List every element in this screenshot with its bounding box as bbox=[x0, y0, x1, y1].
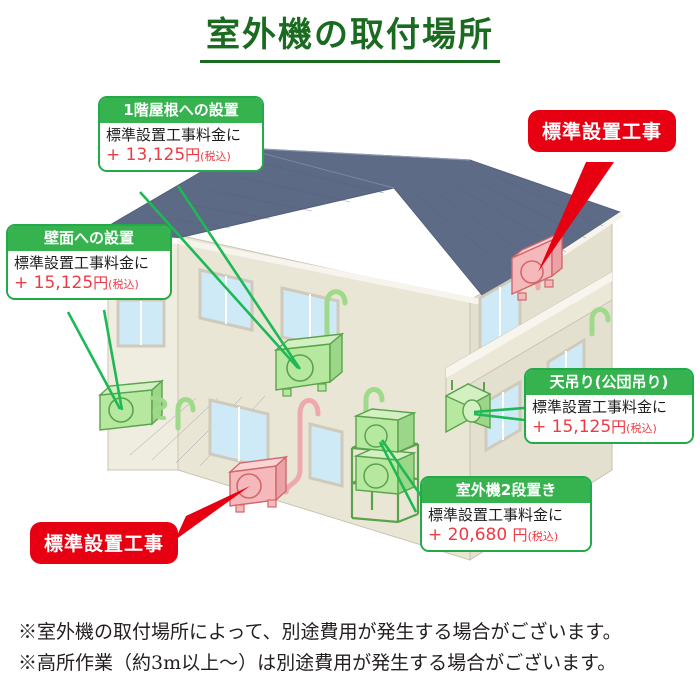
outdoor-unit-ground-pink bbox=[230, 457, 286, 512]
yen-unit: 円 bbox=[513, 526, 528, 544]
tax-note: (税込) bbox=[200, 150, 231, 163]
plus-sign: + bbox=[14, 273, 28, 293]
callout-roof-1f-price: + 13,125円(税込) bbox=[106, 145, 256, 166]
plus-sign: + bbox=[428, 525, 442, 545]
yen-unit: 円 bbox=[185, 146, 200, 164]
red-label-standard-top[interactable]: 標準設置工事 bbox=[528, 110, 676, 152]
callout-ceiling-hang-header: 天吊り(公団吊り) bbox=[526, 370, 692, 395]
tax-note: (税込) bbox=[528, 530, 559, 543]
yen-unit: 円 bbox=[611, 418, 626, 436]
callout-wall[interactable]: 壁面への設置 標準設置工事料金に + 15,125円(税込) bbox=[6, 224, 172, 300]
tax-note: (税込) bbox=[108, 278, 139, 291]
callout-ceiling-hang-price: + 15,125円(税込) bbox=[532, 417, 686, 438]
callout-ceiling-hang[interactable]: 天吊り(公団吊り) 標準設置工事料金に + 15,125円(税込) bbox=[524, 368, 694, 444]
footer-notes: ※室外機の取付場所によって、別途費用が発生する場合がございます。 ※高所作業（約… bbox=[18, 617, 688, 679]
callout-roof-1f-body: 標準設置工事料金に + 13,125円(税込) bbox=[100, 123, 262, 170]
amount: 20,680 bbox=[448, 525, 507, 545]
callout-roof-1f-header: 1階屋根への設置 bbox=[100, 98, 262, 123]
callout-two-tier-body: 標準設置工事料金に + 20,680 円(税込) bbox=[422, 503, 590, 550]
plus-sign: + bbox=[532, 417, 546, 437]
note-line-1: ※室外機の取付場所によって、別途費用が発生する場合がございます。 bbox=[18, 617, 688, 648]
window-front-lower-right bbox=[310, 424, 342, 486]
plus-sign: + bbox=[106, 145, 120, 165]
callout-two-tier-price: + 20,680 円(税込) bbox=[428, 525, 584, 546]
callout-roof-1f[interactable]: 1階屋根への設置 標準設置工事料金に + 13,125円(税込) bbox=[98, 96, 264, 172]
amount: 15,125 bbox=[34, 273, 93, 293]
callout-two-tier-header: 室外機2段置き bbox=[422, 478, 590, 503]
callout-wall-price: + 15,125円(税込) bbox=[14, 273, 164, 294]
callout-two-tier-line1: 標準設置工事料金に bbox=[428, 506, 584, 524]
yen-unit: 円 bbox=[93, 274, 108, 292]
amount: 15,125 bbox=[552, 417, 611, 437]
callout-wall-header: 壁面への設置 bbox=[8, 226, 170, 251]
callout-two-tier[interactable]: 室外機2段置き 標準設置工事料金に + 20,680 円(税込) bbox=[420, 476, 592, 552]
infographic-root: 室外機の取付場所 bbox=[0, 0, 700, 700]
callout-wall-line1: 標準設置工事料金に bbox=[14, 254, 164, 272]
tax-note: (税込) bbox=[626, 422, 657, 435]
callout-ceiling-hang-body: 標準設置工事料金に + 15,125円(税込) bbox=[526, 395, 692, 442]
callout-roof-1f-line1: 標準設置工事料金に bbox=[106, 126, 256, 144]
window-left-wall bbox=[118, 300, 164, 346]
callout-wall-body: 標準設置工事料金に + 15,125円(税込) bbox=[8, 251, 170, 298]
amount: 13,125 bbox=[126, 145, 185, 165]
red-label-standard-bottom[interactable]: 標準設置工事 bbox=[30, 522, 178, 564]
window-front-upper-left bbox=[200, 270, 252, 330]
callout-ceiling-hang-line1: 標準設置工事料金に bbox=[532, 398, 686, 416]
note-line-2: ※高所作業（約3m以上〜）は別途費用が発生する場合がございます。 bbox=[18, 648, 688, 679]
